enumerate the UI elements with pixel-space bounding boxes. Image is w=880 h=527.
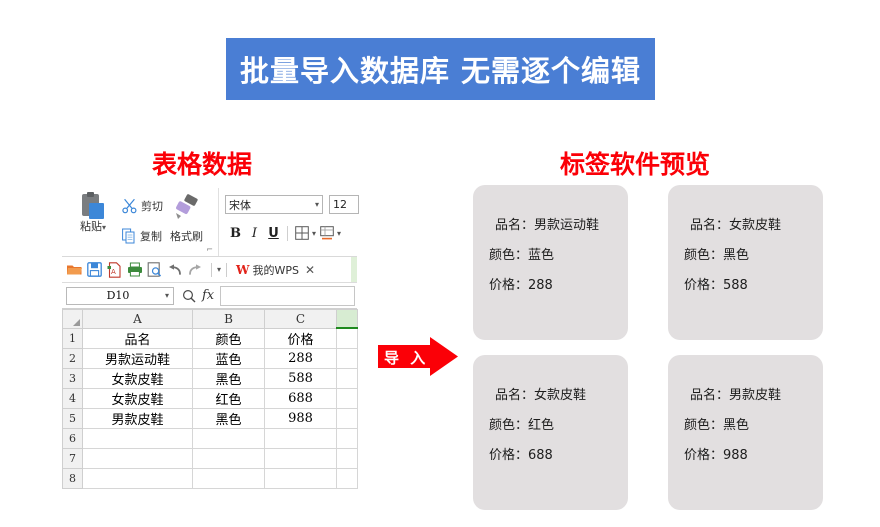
copy-button[interactable]: 复制 (122, 228, 162, 244)
column-header-a[interactable]: A (83, 310, 193, 329)
cell-c1[interactable]: 价格 (265, 328, 337, 349)
label-card-name: 品名：男款皮鞋 (684, 381, 823, 411)
table-row: 5 男款皮鞋 黑色 988 (63, 409, 358, 429)
paste-button[interactable]: 粘贴▾ (70, 192, 116, 235)
cell-d1[interactable] (337, 328, 358, 349)
borders-icon (295, 226, 309, 240)
spreadsheet-panel: 粘贴▾ 剪切 复制 (62, 188, 357, 521)
cell-b6[interactable] (193, 429, 265, 449)
underline-button[interactable]: U (265, 224, 282, 242)
label-card[interactable]: 品名：女款皮鞋 颜色：红色 价格：688 (473, 355, 628, 510)
label-card-name: 品名：女款皮鞋 (489, 381, 628, 411)
cell-b5[interactable]: 黑色 (193, 409, 265, 429)
cell-c4[interactable]: 688 (265, 389, 337, 409)
wps-logo-icon: W (236, 263, 249, 277)
formula-bar: D10 ▾ fx (62, 283, 357, 309)
cell-d4[interactable] (337, 389, 358, 409)
ribbon-toolbar: 粘贴▾ 剪切 复制 (62, 188, 357, 257)
fill-color-icon (320, 226, 334, 240)
label-card-price: 价格：688 (489, 441, 628, 471)
paste-caret-icon: ▾ (102, 223, 106, 232)
cell-a1[interactable]: 品名 (83, 328, 193, 349)
cell-d2[interactable] (337, 349, 358, 369)
cell-d6[interactable] (337, 429, 358, 449)
copy-button-label: 复制 (140, 228, 162, 244)
format-painter-label: 格式刷 (170, 228, 203, 244)
toolbar-divider (287, 226, 288, 241)
label-card-name: 品名：女款皮鞋 (684, 211, 823, 241)
select-all-corner[interactable] (63, 310, 83, 329)
quick-access-toolbar: A (62, 257, 357, 283)
paint-brush-icon (172, 194, 200, 220)
table-row: 7 (63, 449, 358, 469)
cell-a6[interactable] (83, 429, 193, 449)
font-family-select[interactable]: 宋体 ▾ (225, 195, 323, 214)
format-painter-icon-wrap[interactable] (172, 194, 200, 224)
row-header-4[interactable]: 4 (63, 389, 83, 409)
row-header-2[interactable]: 2 (63, 349, 83, 369)
row-header-7[interactable]: 7 (63, 449, 83, 469)
toolbar-right-edge (351, 257, 357, 282)
quick-access-more-caret-icon[interactable]: ▾ (217, 265, 221, 274)
table-row: 8 (63, 469, 358, 489)
table-row: 4 女款皮鞋 红色 688 (63, 389, 358, 409)
column-header-row: A B C (63, 310, 358, 329)
cell-a7[interactable] (83, 449, 193, 469)
print-preview-icon[interactable] (146, 261, 163, 278)
name-box-value: D10 (71, 289, 165, 302)
label-card-color: 颜色：黑色 (684, 241, 823, 271)
title-banner: 批量导入数据库 无需逐个编辑 (226, 38, 655, 100)
chevron-down-icon[interactable]: ▾ (165, 291, 169, 300)
label-card-price: 价格：988 (684, 441, 823, 471)
export-pdf-icon[interactable]: A (106, 261, 123, 278)
italic-button[interactable]: I (246, 224, 263, 242)
cut-button-label: 剪切 (141, 198, 163, 214)
banner-title: 批量导入数据库 无需逐个编辑 (240, 48, 641, 90)
text-format-row: B I U ▾ (227, 224, 341, 242)
cell-a5[interactable]: 男款皮鞋 (83, 409, 193, 429)
undo-icon[interactable] (166, 261, 183, 278)
print-icon[interactable] (126, 261, 143, 278)
section-heading-label-preview: 标签软件预览 (560, 145, 710, 181)
cell-b7[interactable] (193, 449, 265, 469)
row-header-8[interactable]: 8 (63, 469, 83, 489)
cell-b1[interactable]: 颜色 (193, 328, 265, 349)
clipboard-group: 粘贴▾ 剪切 复制 (62, 188, 219, 256)
cell-d5[interactable] (337, 409, 358, 429)
label-card-price: 价格：588 (684, 271, 823, 301)
copy-icon (122, 228, 137, 244)
cell-b2[interactable]: 蓝色 (193, 349, 265, 369)
cell-b4[interactable]: 红色 (193, 389, 265, 409)
open-folder-icon[interactable] (66, 261, 83, 278)
cell-c6[interactable] (265, 429, 337, 449)
table-row: 6 (63, 429, 358, 449)
scissors-icon (122, 198, 138, 214)
redo-icon[interactable] (186, 261, 203, 278)
cell-c3[interactable]: 588 (265, 369, 337, 389)
close-icon[interactable]: ✕ (305, 263, 315, 277)
label-card-color: 颜色：红色 (489, 411, 628, 441)
cell-c5[interactable]: 988 (265, 409, 337, 429)
label-card[interactable]: 品名：女款皮鞋 颜色：黑色 价格：588 (668, 185, 823, 340)
cut-button[interactable]: 剪切 (122, 198, 163, 214)
label-card-color: 颜色：蓝色 (489, 241, 628, 271)
format-painter-button[interactable]: 格式刷 (170, 228, 203, 244)
clipboard-dialog-launcher-icon[interactable]: ⌐ (206, 245, 213, 254)
font-size-select[interactable]: 12 (329, 195, 359, 214)
name-box[interactable]: D10 ▾ (66, 287, 174, 305)
table-row: 2 男款运动鞋 蓝色 288 (63, 349, 358, 369)
row-header-1[interactable]: 1 (63, 328, 83, 349)
label-card-color: 颜色：黑色 (684, 411, 823, 441)
column-header-b[interactable]: B (193, 310, 265, 329)
label-card[interactable]: 品名：男款运动鞋 颜色：蓝色 价格：288 (473, 185, 628, 340)
label-card-name: 品名：男款运动鞋 (489, 211, 628, 241)
cell-c8[interactable] (265, 469, 337, 489)
label-card-price: 价格：288 (489, 271, 628, 301)
cell-c7[interactable] (265, 449, 337, 469)
toolbar-divider (211, 263, 212, 277)
column-header-c[interactable]: C (265, 310, 337, 329)
fill-color-caret-icon[interactable]: ▾ (337, 229, 341, 238)
document-tab-label: 我的WPS (253, 262, 300, 278)
cell-d8[interactable] (337, 469, 358, 489)
cell-a4[interactable]: 女款皮鞋 (83, 389, 193, 409)
document-tab-my-wps[interactable]: W 我的WPS ✕ (232, 260, 319, 280)
cell-a8[interactable] (83, 469, 193, 489)
search-icon[interactable] (182, 289, 196, 303)
row-header-6[interactable]: 6 (63, 429, 83, 449)
cell-d3[interactable] (337, 369, 358, 389)
cell-b8[interactable] (193, 469, 265, 489)
borders-button[interactable] (293, 224, 310, 242)
cell-b3[interactable]: 黑色 (193, 369, 265, 389)
font-family-value: 宋体 (229, 197, 251, 213)
font-size-value: 12 (333, 198, 347, 211)
section-heading-table-data: 表格数据 (152, 145, 252, 181)
clipboard-icon (80, 192, 106, 220)
import-arrow-label: 导 入 (384, 347, 428, 368)
spreadsheet-grid: A B C 1 品名 颜色 价格 2 男款运动鞋 蓝色 288 3 女 (62, 309, 357, 489)
cell-c2[interactable]: 288 (265, 349, 337, 369)
column-header-d[interactable] (337, 310, 358, 329)
font-group: 宋体 ▾ 12 B I U ▾ (219, 188, 357, 256)
bold-button[interactable]: B (227, 224, 244, 242)
paste-button-label: 粘贴 (80, 220, 102, 233)
save-icon[interactable] (86, 261, 103, 278)
cell-d7[interactable] (337, 449, 358, 469)
table-row: 3 女款皮鞋 黑色 588 (63, 369, 358, 389)
import-arrow: 导 入 (378, 337, 470, 377)
svg-text:A: A (111, 268, 116, 276)
formula-fx-icon[interactable]: fx (202, 288, 214, 303)
label-card[interactable]: 品名：男款皮鞋 颜色：黑色 价格：988 (668, 355, 823, 510)
row-header-5[interactable]: 5 (63, 409, 83, 429)
fill-color-button[interactable] (318, 224, 335, 242)
table-row: 1 品名 颜色 价格 (63, 328, 358, 349)
cell-a3[interactable]: 女款皮鞋 (83, 369, 193, 389)
row-header-3[interactable]: 3 (63, 369, 83, 389)
formula-input[interactable] (220, 286, 355, 306)
cell-a2[interactable]: 男款运动鞋 (83, 349, 193, 369)
toolbar-divider (226, 263, 227, 277)
borders-caret-icon[interactable]: ▾ (312, 229, 316, 238)
chevron-down-icon: ▾ (315, 200, 319, 209)
